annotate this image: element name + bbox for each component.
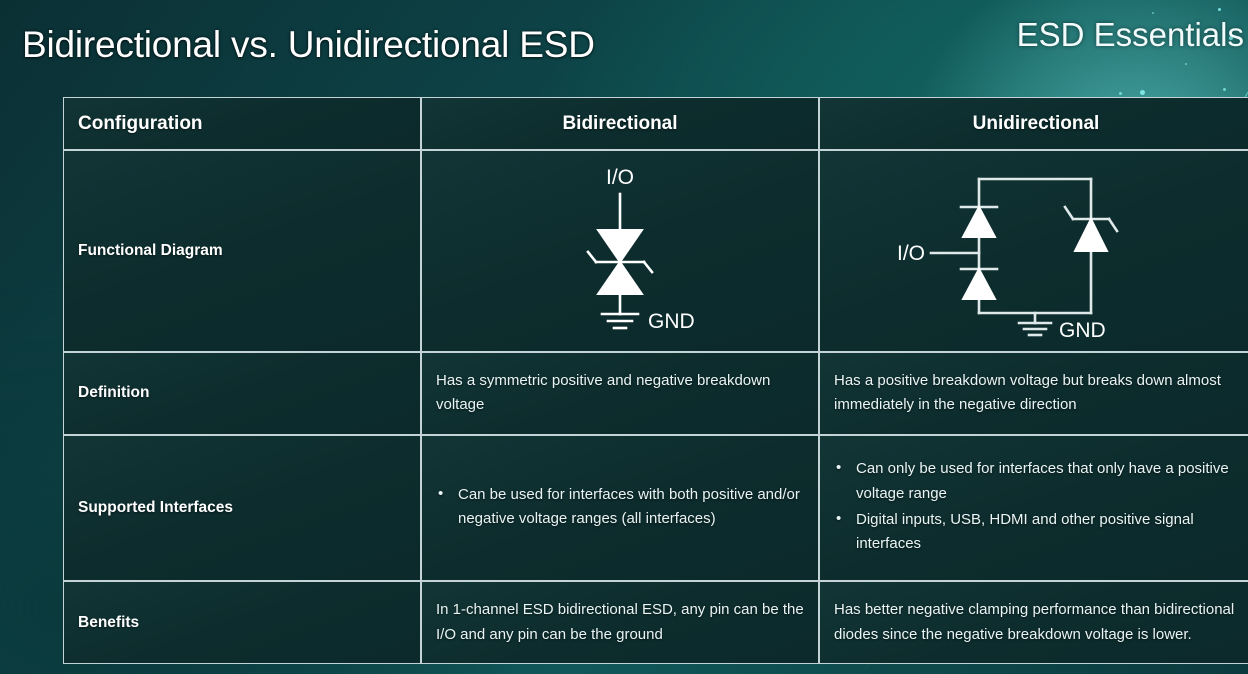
star-particle xyxy=(1119,92,1122,95)
gnd-label: GND xyxy=(648,310,695,333)
unidirectional-steering-diode-schematic: I/O GND xyxy=(891,157,1181,345)
deck-label: ESD Essentials xyxy=(1017,16,1244,54)
table-row: Benefits In 1-channel ESD bidirectional … xyxy=(63,581,1248,664)
column-header-bidirectional: Bidirectional xyxy=(421,97,819,150)
cell-benefits-bidirectional: In 1-channel ESD bidirectional ESD, any … xyxy=(421,581,819,664)
cell-definition-unidirectional: Has a positive breakdown voltage but bre… xyxy=(819,352,1248,435)
row-header-benefits: Benefits xyxy=(63,581,421,664)
table-row: Supported Interfaces Can be used for int… xyxy=(63,435,1248,581)
cell-supported-interfaces-unidirectional: Can only be used for interfaces that onl… xyxy=(819,435,1248,581)
slide-title-bar: Bidirectional vs. Unidirectional ESD ESD… xyxy=(0,0,1248,88)
table-body: Functional Diagram xyxy=(63,150,1248,664)
bullet-list: Can be used for interfaces with both pos… xyxy=(436,483,806,532)
cell-benefits-unidirectional: Has better negative clamping performance… xyxy=(819,581,1248,664)
table-row: Definition Has a symmetric positive and … xyxy=(63,352,1248,435)
cell-unidirectional-diagram: I/O GND xyxy=(819,150,1248,352)
row-header-supported-interfaces: Supported Interfaces xyxy=(63,435,421,581)
star-particle xyxy=(1140,90,1145,95)
list-item: Digital inputs, USB, HDMI and other posi… xyxy=(834,508,1240,557)
bullet-list: Can only be used for interfaces that onl… xyxy=(834,457,1240,556)
star-particle xyxy=(1223,88,1226,91)
list-item: Can only be used for interfaces that onl… xyxy=(834,457,1240,506)
cell-supported-interfaces-bidirectional: Can be used for interfaces with both pos… xyxy=(421,435,819,581)
bidirectional-tvs-diode-schematic: I/O GND xyxy=(520,158,720,344)
table-row: Functional Diagram xyxy=(63,150,1248,352)
paragraph: In 1-channel ESD bidirectional ESD, any … xyxy=(436,598,806,647)
column-header-unidirectional: Unidirectional xyxy=(819,97,1248,150)
row-header-functional-diagram: Functional Diagram xyxy=(63,150,421,352)
cell-definition-bidirectional: Has a symmetric positive and negative br… xyxy=(421,352,819,435)
paragraph: Has a symmetric positive and negative br… xyxy=(436,369,806,418)
list-item: Can be used for interfaces with both pos… xyxy=(436,483,806,532)
column-header-configuration: Configuration xyxy=(63,97,421,150)
table-header: Configuration Bidirectional Unidirection… xyxy=(63,97,1248,150)
row-header-definition: Definition xyxy=(63,352,421,435)
comparison-table: Configuration Bidirectional Unidirection… xyxy=(63,97,1248,664)
table-header-row: Configuration Bidirectional Unidirection… xyxy=(63,97,1248,150)
cell-bidirectional-diagram: I/O GND xyxy=(421,150,819,352)
io-label: I/O xyxy=(897,242,925,265)
paragraph: Has a positive breakdown voltage but bre… xyxy=(834,369,1240,418)
io-label: I/O xyxy=(606,166,634,189)
gnd-label: GND xyxy=(1059,319,1106,342)
paragraph: Has better negative clamping performance… xyxy=(834,598,1240,647)
page-title: Bidirectional vs. Unidirectional ESD xyxy=(22,24,595,66)
